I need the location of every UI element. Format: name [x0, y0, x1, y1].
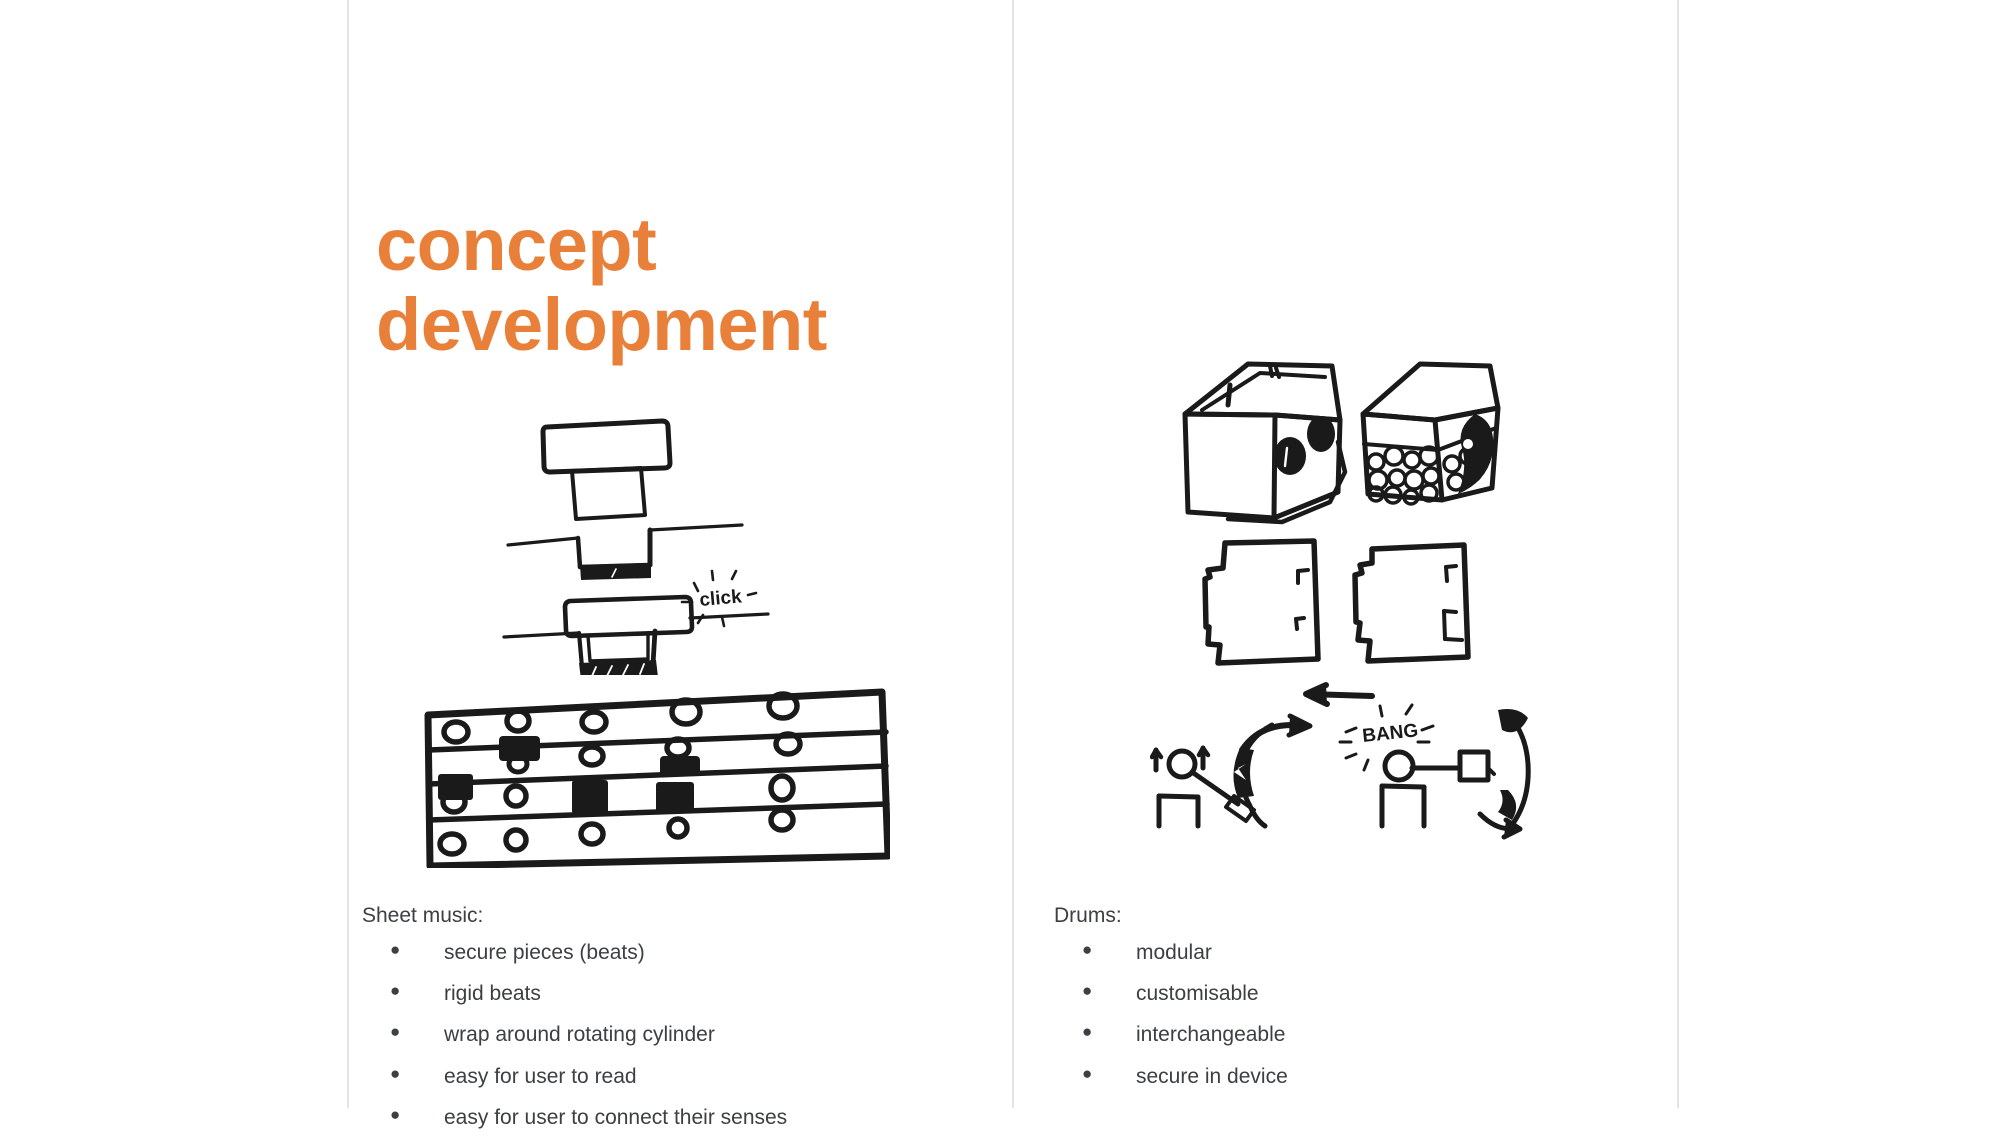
list-item-label: easy for user to connect their senses	[444, 1104, 982, 1132]
bullet-icon: ●	[1082, 980, 1092, 1003]
box-with-holes	[1185, 364, 1345, 522]
staff-line-2	[429, 766, 886, 784]
bullet-icon: ●	[390, 1104, 400, 1127]
bullet-icon: ●	[390, 980, 400, 1003]
list-item: ● wrap around rotating cylinder	[362, 1021, 982, 1049]
sheet-music-heading: Sheet music:	[362, 900, 982, 933]
tpiece-cap	[543, 421, 670, 472]
panel-right	[1355, 545, 1468, 661]
list-item-label: easy for user to read	[444, 1063, 982, 1091]
drum-strike-figures-sketch: BANG	[1150, 680, 1550, 840]
column-divider-right	[1677, 0, 1679, 1108]
list-item-label: rigid beats	[444, 980, 982, 1008]
list-item-label: interchangeable	[1136, 1021, 1674, 1049]
bullet-icon: ●	[390, 1063, 400, 1086]
snap-fit-block-sketch: click	[500, 405, 780, 675]
panel-left	[1205, 541, 1318, 663]
bullet-icon: ●	[1082, 1063, 1092, 1086]
click-annotation-label: click	[699, 586, 743, 611]
tpiece-stem	[572, 468, 645, 519]
list-item: ● rigid beats	[362, 980, 982, 1008]
list-item: ● modular	[1054, 939, 1674, 967]
slot-right-surface	[650, 525, 742, 530]
drums-heading: Drums:	[1054, 900, 1674, 933]
inserted-cap	[565, 597, 692, 636]
bullet-icon: ●	[390, 1021, 400, 1044]
slot-left-surface	[508, 538, 578, 545]
insert-wall-right	[653, 631, 655, 664]
bang-annotation-label: BANG	[1361, 720, 1419, 747]
list-item: ● easy for user to connect their senses	[362, 1104, 982, 1132]
sheet-music-bullet-list: ● secure pieces (beats) ● rigid beats ● …	[362, 939, 982, 1133]
list-item: ● interchangeable	[1054, 1021, 1674, 1049]
insert-wall-left	[579, 633, 582, 667]
drums-text-block: Drums: ● modular ● customisable ● interc…	[1054, 900, 1674, 1104]
list-item-label: customisable	[1136, 980, 1674, 1008]
column-divider-left	[347, 0, 349, 1108]
bullet-icon: ●	[1082, 939, 1092, 962]
slide-title: concept development	[376, 205, 1016, 365]
box-with-beads	[1363, 364, 1498, 504]
flow-arrow-left	[1306, 685, 1372, 704]
list-item: ● customisable	[1054, 980, 1674, 1008]
list-item-label: secure pieces (beats)	[444, 939, 982, 967]
drums-bullet-list: ● modular ● customisable ● interchangeab…	[1054, 939, 1674, 1091]
slide-title-line-1: concept	[376, 205, 1016, 285]
column-divider-middle	[1012, 0, 1014, 1108]
drum-box-sketch	[1180, 352, 1530, 542]
modular-panel-sketch	[1190, 535, 1510, 685]
list-item-label: wrap around rotating cylinder	[444, 1021, 982, 1049]
sheet-music-text-block: Sheet music: ● secure pieces (beats) ● r…	[362, 900, 982, 1145]
list-item-label: modular	[1136, 939, 1674, 967]
slide-canvas: concept development	[0, 0, 2000, 1125]
list-item-label: secure in device	[1136, 1063, 1674, 1091]
figure-left	[1152, 716, 1310, 826]
slot-left-wall	[578, 538, 580, 567]
bullet-icon: ●	[1082, 1021, 1092, 1044]
box-shadow-face	[1458, 414, 1493, 494]
bullet-icon: ●	[390, 939, 400, 962]
list-item: ● secure in device	[1054, 1063, 1674, 1091]
sheet-music-strip-sketch	[420, 688, 890, 868]
slide-title-line-2: development	[376, 285, 1016, 365]
list-item: ● easy for user to read	[362, 1063, 982, 1091]
staff-line-1	[429, 732, 886, 750]
list-item: ● secure pieces (beats)	[362, 939, 982, 967]
